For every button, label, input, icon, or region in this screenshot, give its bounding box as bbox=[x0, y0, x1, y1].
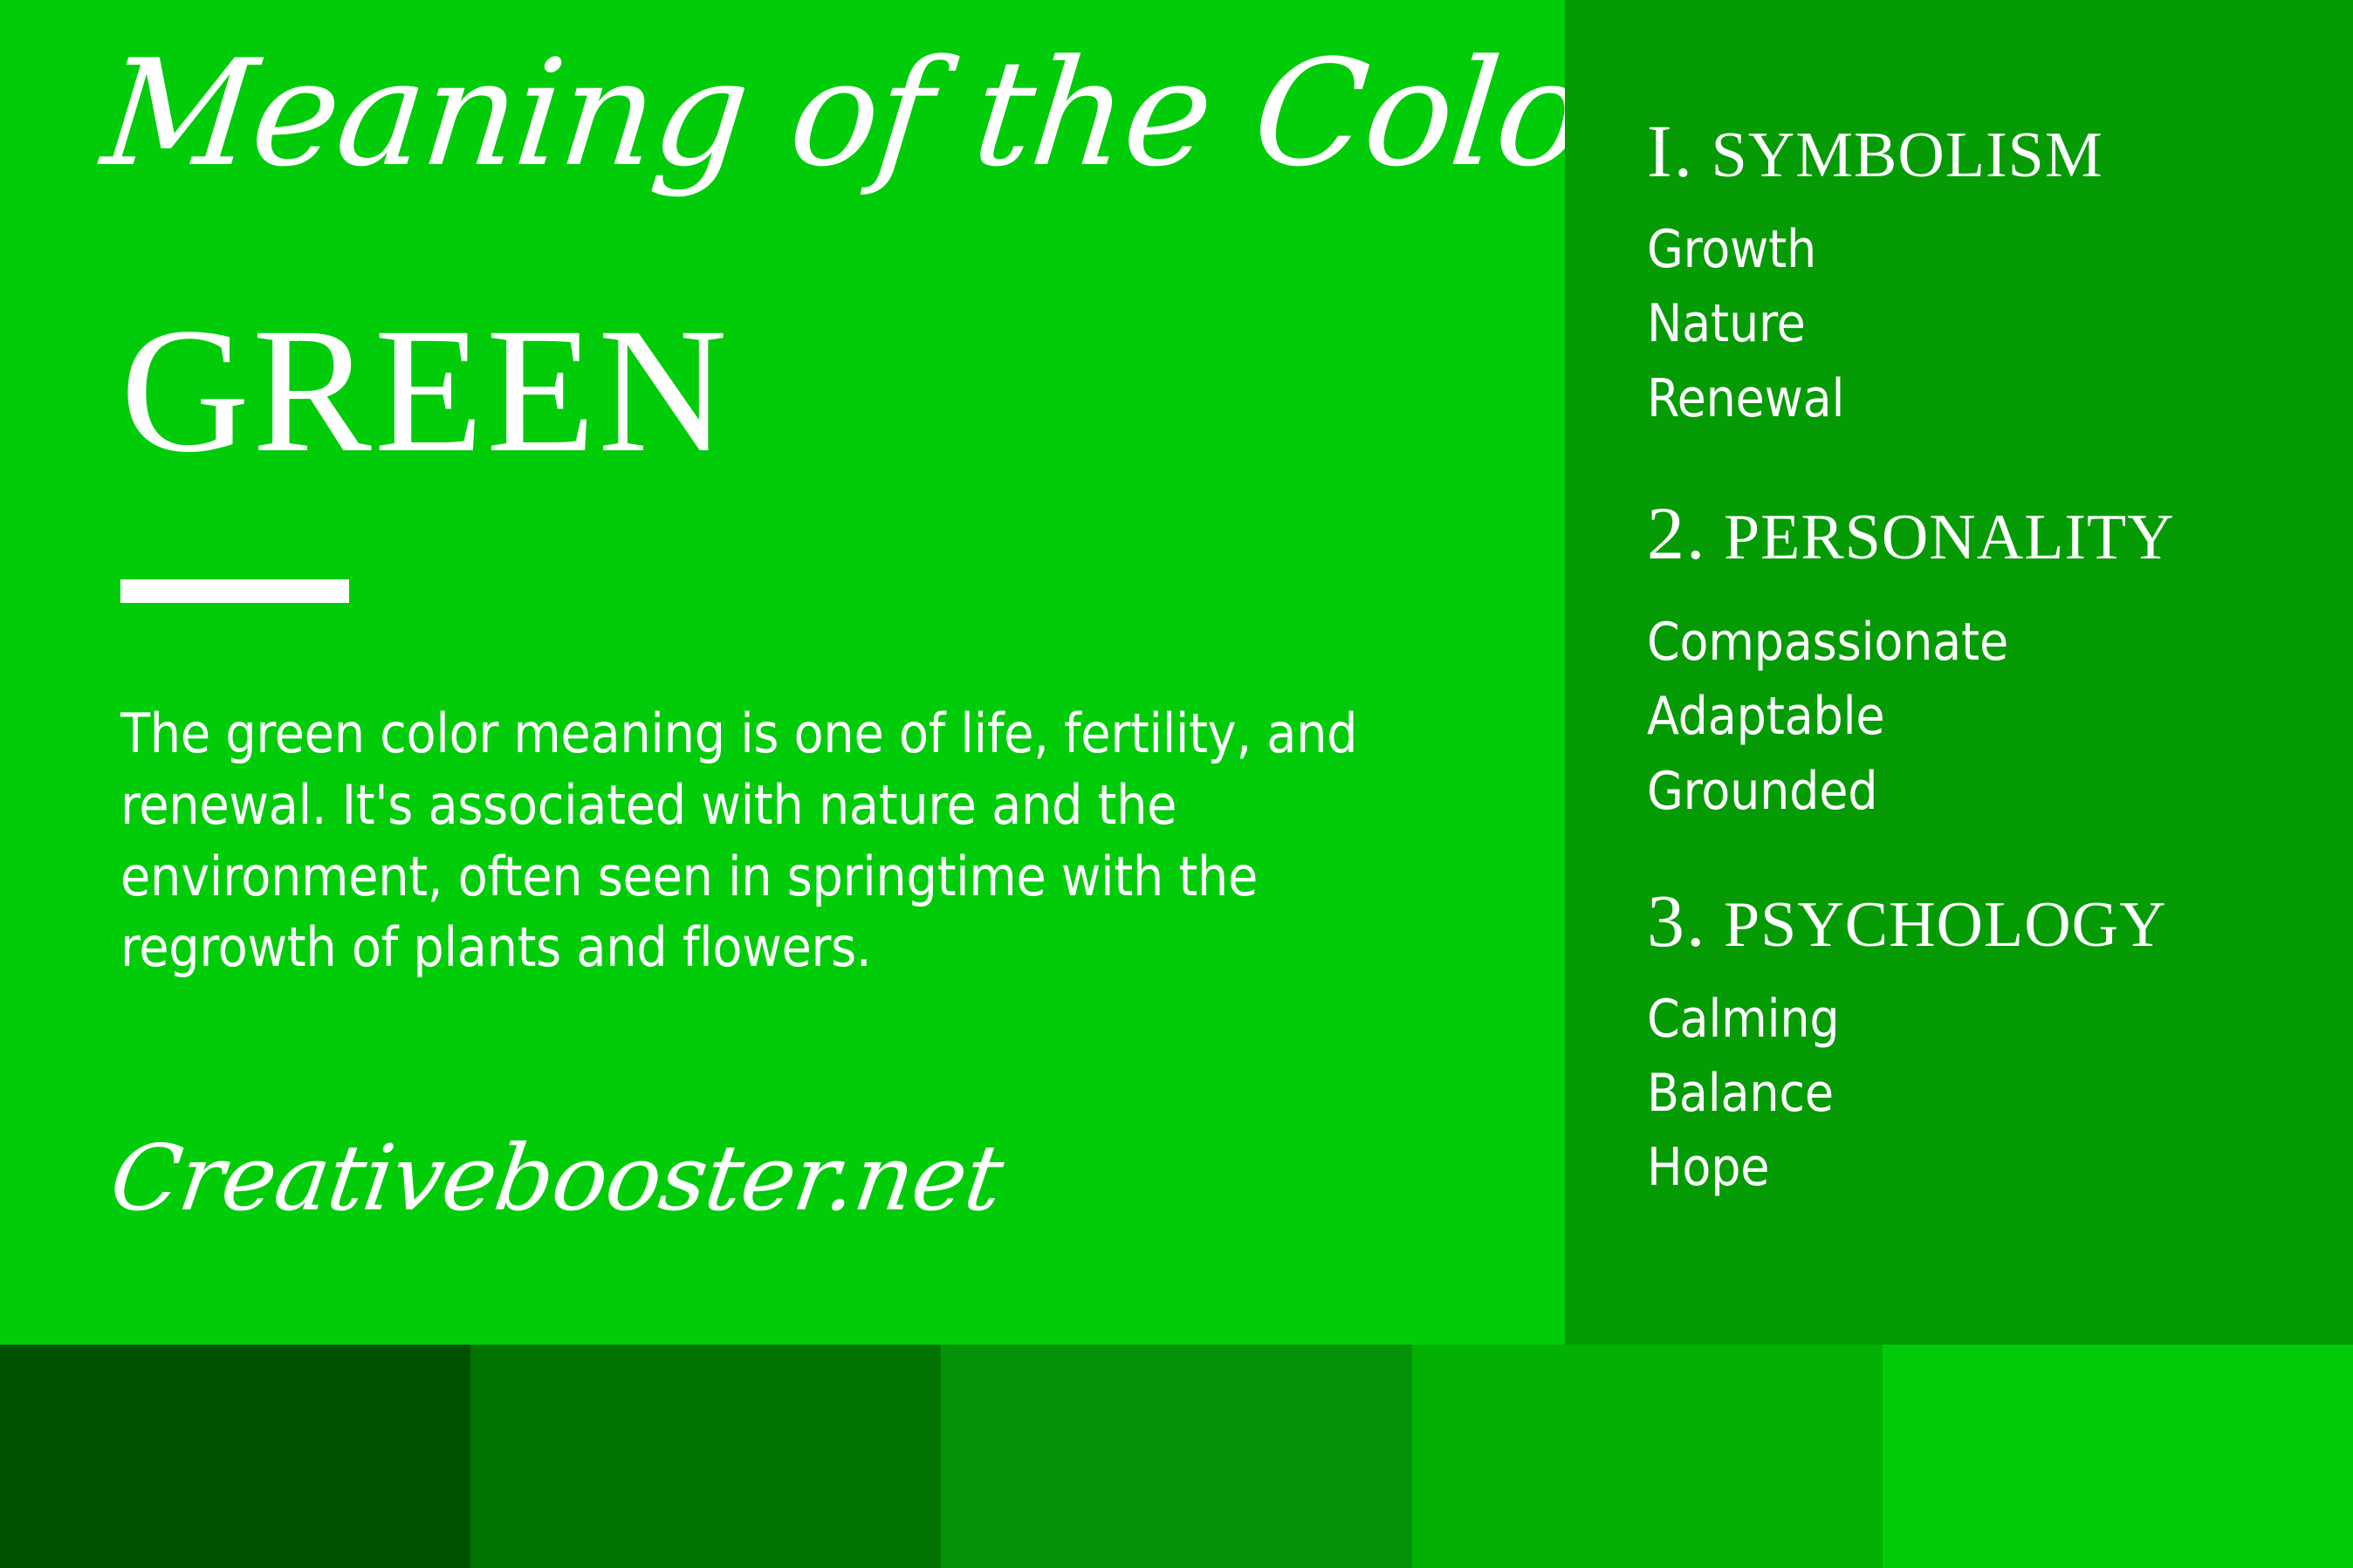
section-number: I. bbox=[1647, 109, 1694, 193]
section-number: 2. bbox=[1647, 491, 1707, 575]
section-psychology: 3. PSYCHOLOGY Calming Balance Hope bbox=[1647, 881, 2336, 1206]
list-item: Balance bbox=[1647, 1057, 2336, 1131]
swatch-dark-green bbox=[470, 1345, 941, 1568]
symbolism-items: Growth Nature Renewal bbox=[1647, 213, 2336, 436]
swatch-bright-green bbox=[1412, 1345, 1883, 1568]
list-item: Grounded bbox=[1647, 755, 2336, 829]
list-item: Nature bbox=[1647, 287, 2336, 361]
section-heading-psychology: 3. PSYCHOLOGY bbox=[1647, 881, 2336, 960]
poster-main-area: Meaning of the Color GREEN The green col… bbox=[0, 0, 2353, 1345]
list-item: Hope bbox=[1647, 1131, 2336, 1205]
section-number: 3. bbox=[1647, 879, 1707, 962]
color-meaning-poster: Meaning of the Color GREEN The green col… bbox=[0, 0, 2353, 1568]
swatch-mid-green bbox=[941, 1345, 1411, 1568]
body-paragraph: The green color meaning is one of life, … bbox=[120, 698, 1447, 983]
color-swatch-strip bbox=[0, 1345, 2353, 1568]
section-title: SYMBOLISM bbox=[1712, 120, 2103, 191]
section-title: PSYCHOLOGY bbox=[1724, 889, 2167, 961]
section-heading-personality: 2. PERSONALITY bbox=[1647, 494, 2336, 572]
psychology-items: Calming Balance Hope bbox=[1647, 983, 2336, 1206]
title-underline-rule bbox=[120, 579, 349, 603]
right-panel: I. SYMBOLISM Growth Nature Renewal 2. PE… bbox=[1565, 0, 2353, 1345]
swatch-vivid-green bbox=[1883, 1345, 2353, 1568]
list-item: Growth bbox=[1647, 213, 2336, 287]
list-item: Renewal bbox=[1647, 362, 2336, 436]
section-symbolism: I. SYMBOLISM Growth Nature Renewal bbox=[1647, 112, 2336, 436]
section-title: PERSONALITY bbox=[1724, 502, 2175, 573]
personality-items: Compassionate Adaptable Grounded bbox=[1647, 606, 2336, 829]
page-title: GREEN bbox=[120, 301, 730, 480]
script-title: Meaning of the Color bbox=[97, 37, 1660, 190]
list-item: Compassionate bbox=[1647, 606, 2336, 680]
swatch-darkest-green bbox=[0, 1345, 470, 1568]
section-personality: 2. PERSONALITY Compassionate Adaptable G… bbox=[1647, 494, 2336, 829]
left-panel: Meaning of the Color GREEN The green col… bbox=[0, 0, 1565, 1345]
list-item: Adaptable bbox=[1647, 680, 2336, 754]
brand-signature: Creativebooster.net bbox=[106, 1133, 1008, 1223]
sections-list: I. SYMBOLISM Growth Nature Renewal 2. PE… bbox=[1647, 112, 2336, 1206]
section-heading-symbolism: I. SYMBOLISM bbox=[1647, 112, 2336, 190]
list-item: Calming bbox=[1647, 983, 2336, 1057]
